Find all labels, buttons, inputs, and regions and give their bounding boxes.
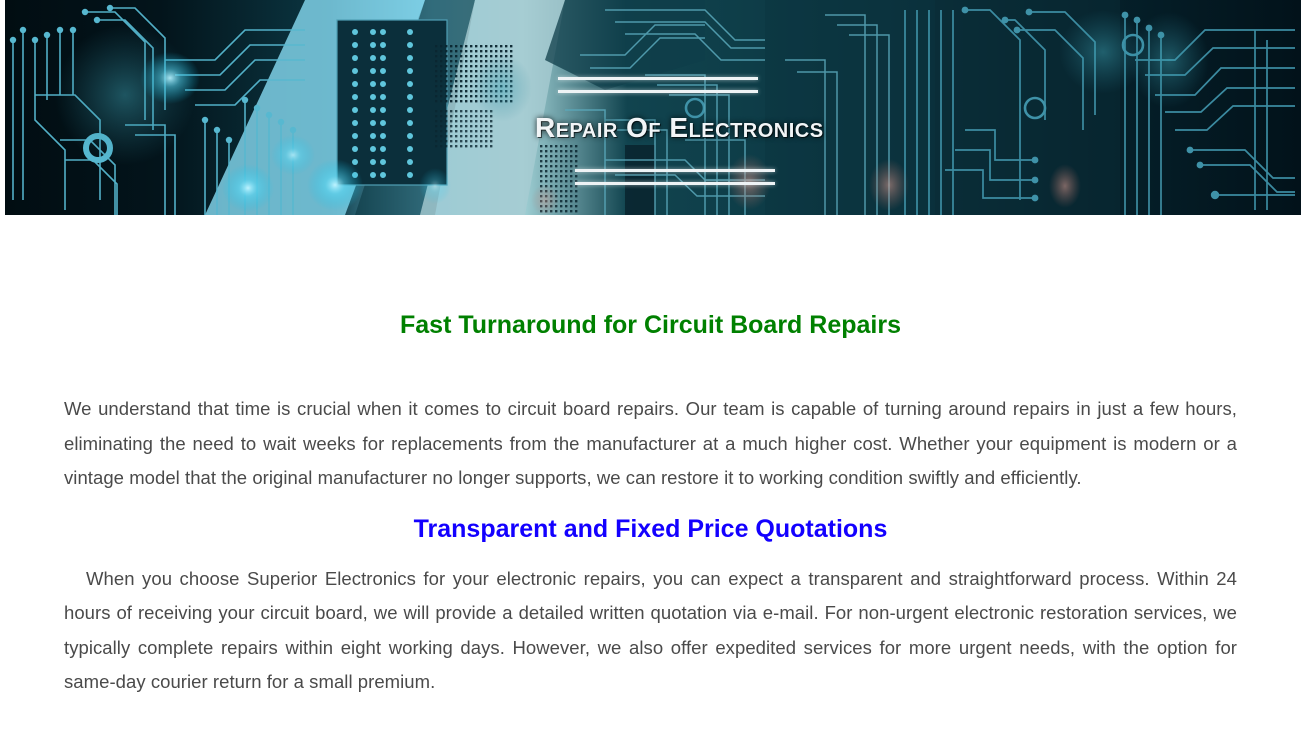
spacer-below-first-heading bbox=[64, 340, 1237, 392]
page-banner: Repair Of Electronics bbox=[5, 0, 1301, 215]
content-top-spacer bbox=[64, 215, 1237, 310]
section-heading-fast-turnaround: Fast Turnaround for Circuit Board Repair… bbox=[64, 310, 1237, 340]
section-paragraph-fast-turnaround: We understand that time is crucial when … bbox=[64, 392, 1237, 496]
spacer-below-first-paragraph bbox=[64, 496, 1237, 514]
section-paragraph-price-quotations: When you choose Superior Electronics for… bbox=[64, 562, 1237, 700]
section-heading-price-quotations: Transparent and Fixed Price Quotations bbox=[64, 514, 1237, 544]
circuit-board-banner-image bbox=[5, 0, 1301, 215]
spacer-below-second-heading bbox=[64, 544, 1237, 562]
page-content: Fast Turnaround for Circuit Board Repair… bbox=[0, 215, 1301, 700]
